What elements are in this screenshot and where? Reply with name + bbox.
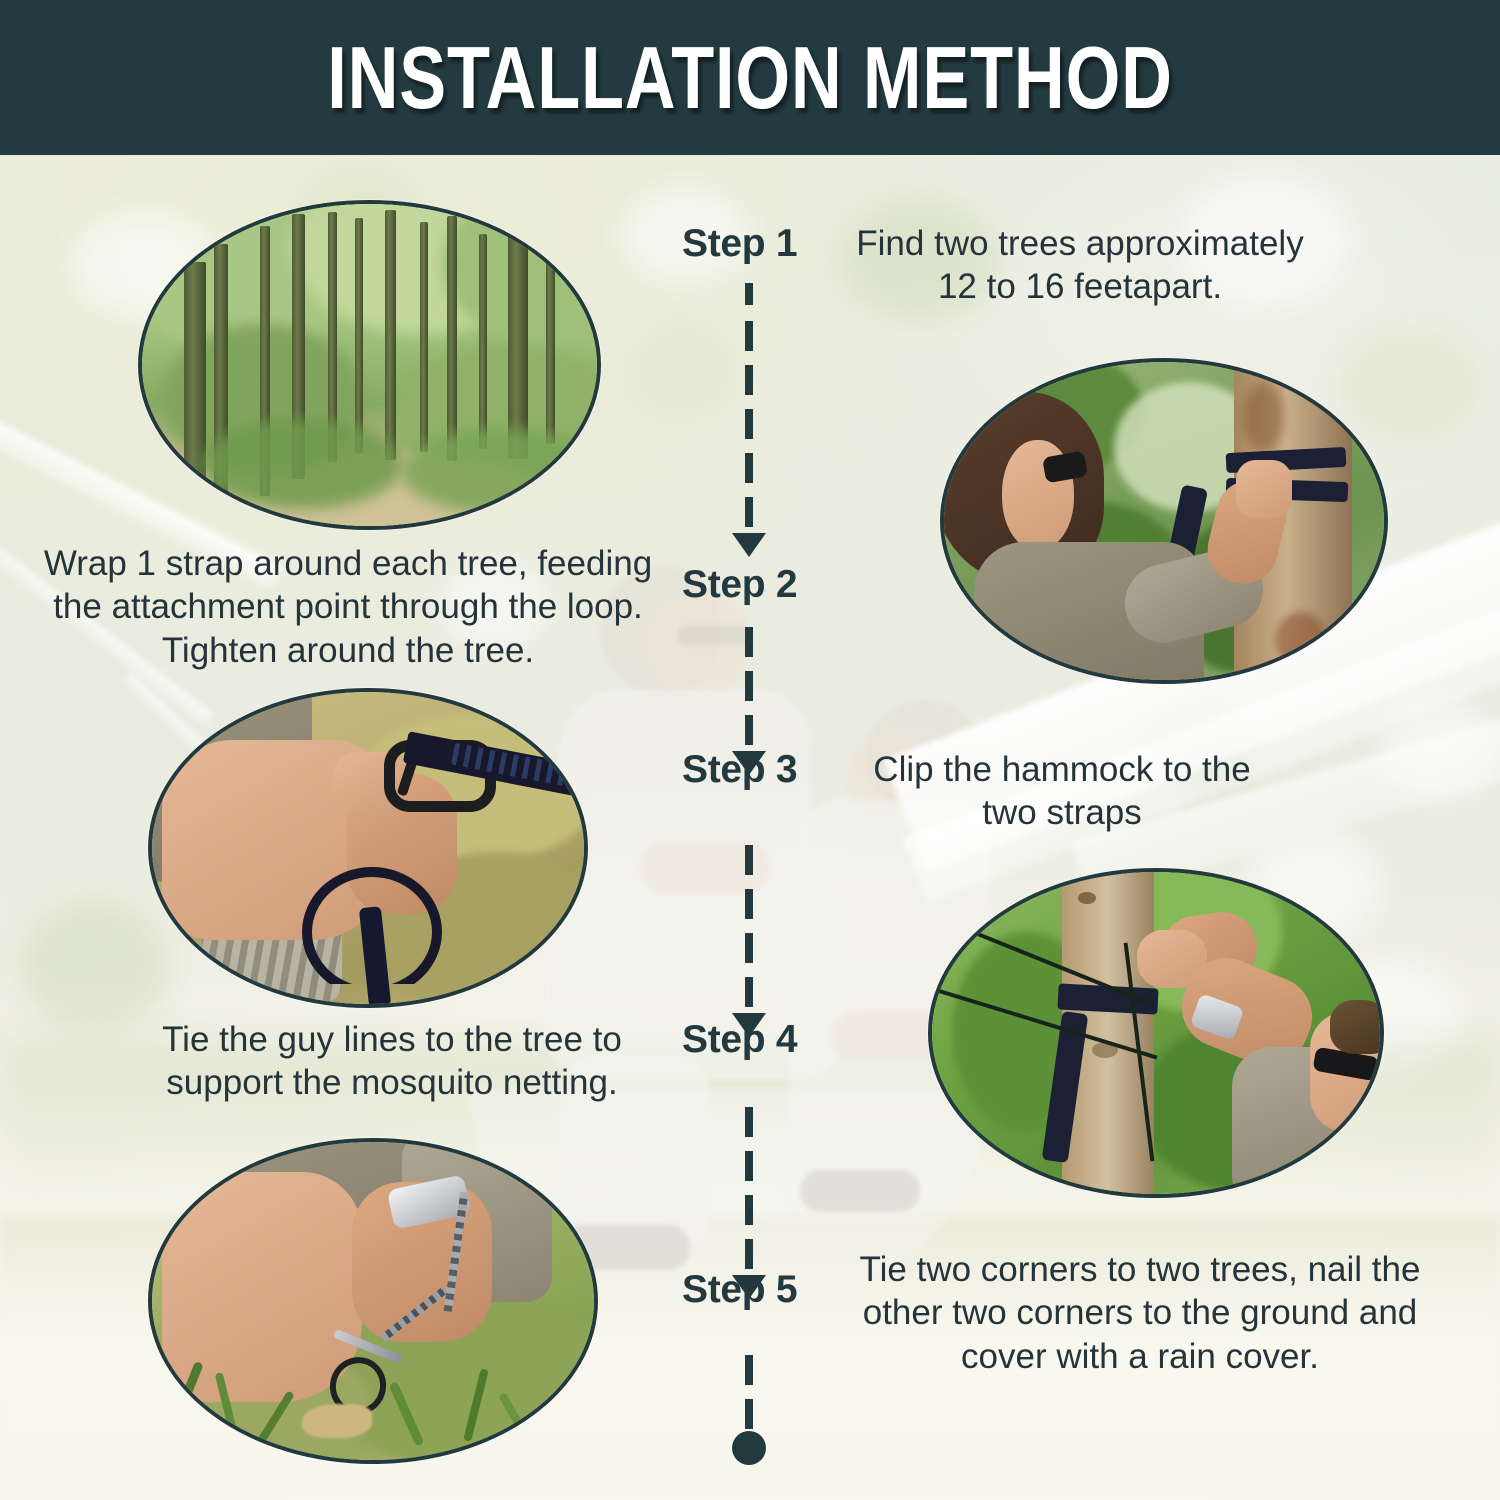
flow-dash — [745, 671, 753, 701]
flow-dash — [745, 1355, 753, 1385]
flow-dash — [745, 1239, 753, 1269]
tree-trunk — [479, 234, 487, 449]
flow-end-dot — [732, 1431, 766, 1465]
step-flow-connector — [745, 283, 753, 1433]
wrapping-strap-around-tree-photo — [940, 358, 1388, 684]
tree-trunk — [447, 216, 457, 461]
flow-dash — [745, 409, 753, 439]
flow-dash — [745, 889, 753, 919]
dry-leaf — [302, 1404, 372, 1438]
step-text-3: Clip the hammock to the two straps — [852, 748, 1272, 835]
undergrowth — [402, 429, 601, 514]
installation-method-poster: INSTALLATION METHOD — [0, 0, 1500, 1500]
bark-marking — [1276, 612, 1326, 668]
flow-dash — [745, 365, 753, 395]
tree-trunk — [355, 218, 363, 453]
flow-dash — [745, 933, 753, 963]
step-text-1: Find two trees approximately 12 to 16 fe… — [840, 222, 1320, 309]
flow-dash — [745, 283, 753, 305]
bark-marking — [1244, 382, 1284, 452]
forest-with-trail-photo — [138, 200, 601, 530]
flow-dash — [745, 627, 753, 657]
flow-dash — [745, 453, 753, 483]
tying-guy-lines-photo — [928, 868, 1384, 1198]
flow-dash — [745, 1151, 753, 1181]
flow-arrowhead — [732, 533, 766, 557]
man-hair — [1330, 1000, 1384, 1054]
flow-dash — [745, 497, 753, 527]
carabiner-clip-photo — [148, 688, 588, 1008]
man-hand — [1236, 460, 1292, 518]
tree-trunk — [420, 222, 428, 452]
ground-stake-photo — [148, 1138, 598, 1464]
step-text-2: Wrap 1 strap around each tree, feeding t… — [38, 542, 658, 672]
header-bar: INSTALLATION METHOD — [0, 0, 1500, 155]
undergrowth — [202, 419, 402, 509]
tree-trunk — [184, 262, 206, 512]
flow-dash — [745, 1399, 753, 1429]
tree-trunk — [385, 210, 396, 460]
step-label-1: Step 1 — [682, 222, 797, 266]
step-label-5: Step 5 — [682, 1268, 797, 1312]
flow-dash — [745, 1195, 753, 1225]
tree-trunk — [508, 224, 528, 459]
step-text-4: Tie the guy lines to the tree to support… — [112, 1018, 672, 1105]
step-label-3: Step 3 — [682, 748, 797, 792]
page-title: INSTALLATION METHOD — [150, 27, 1350, 129]
flow-dash — [745, 845, 753, 875]
flow-dash — [745, 1107, 753, 1137]
bark-knot — [1078, 892, 1096, 904]
flow-dash — [745, 977, 753, 1007]
flow-dash — [745, 715, 753, 745]
tree-trunk — [546, 244, 555, 444]
step-label-4: Step 4 — [682, 1018, 797, 1062]
flow-dash — [745, 321, 753, 351]
step-text-5: Tie two corners to two trees, nail the o… — [850, 1248, 1430, 1378]
step-label-2: Step 2 — [682, 563, 797, 607]
